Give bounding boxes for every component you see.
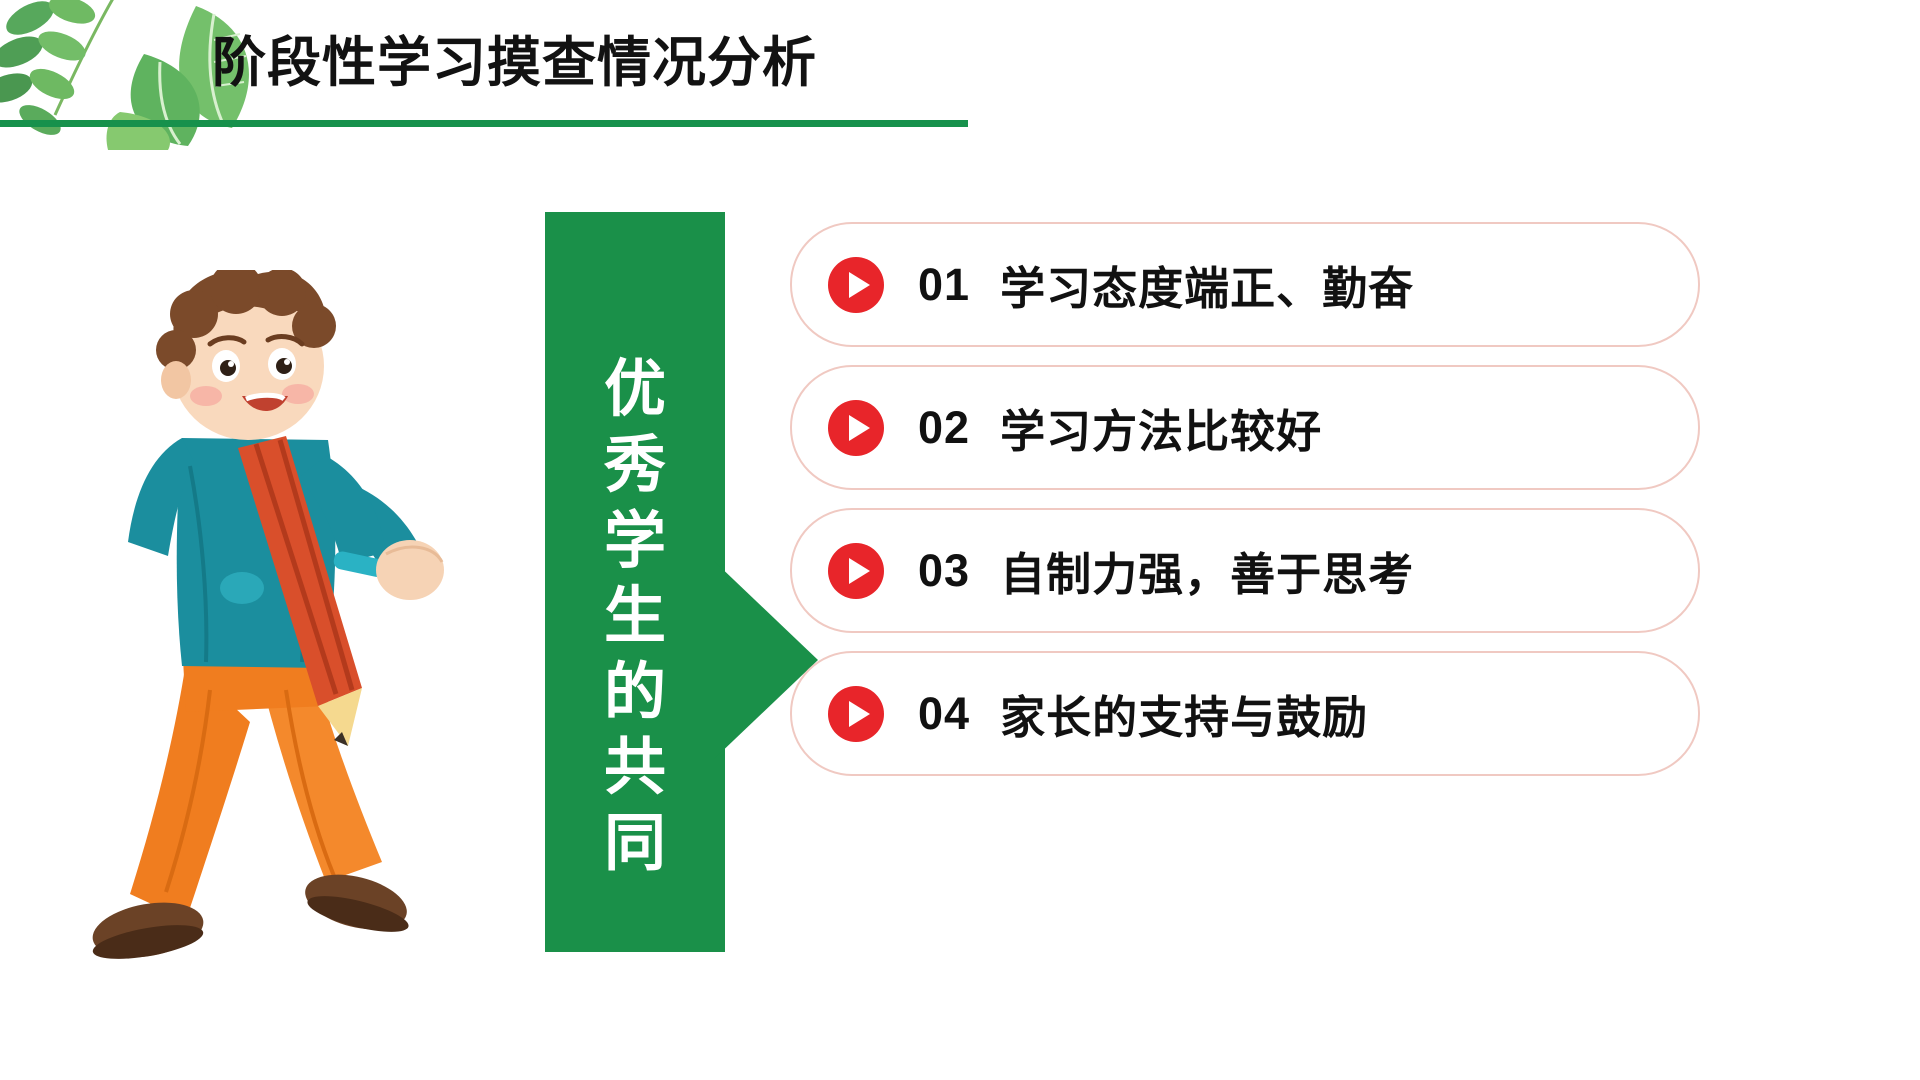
list-item-label: 自制力强，善于思考	[1000, 538, 1414, 603]
list-item-label: 家长的支持与鼓励	[1000, 681, 1368, 746]
page-header: 阶段性学习摸查情况分析	[0, 0, 1100, 160]
boy-with-pencil-illustration	[90, 270, 520, 970]
list-item[interactable]: 02 学习方法比较好	[790, 365, 1700, 490]
head	[156, 270, 336, 440]
list-item[interactable]: 04 家长的支持与鼓励	[790, 651, 1700, 776]
list-item-number: 01	[918, 259, 970, 311]
play-icon	[828, 543, 884, 599]
page-title: 阶段性学习摸查情况分析	[212, 36, 817, 90]
list-item-label: 学习态度端正、勤奋	[1000, 252, 1414, 317]
play-icon	[828, 257, 884, 313]
vertical-banner: 优 秀 学 生 的 共 同	[545, 212, 725, 952]
list-item[interactable]: 03 自制力强，善于思考	[790, 508, 1700, 633]
list-item-number: 03	[918, 545, 970, 597]
list-item-number: 04	[918, 688, 970, 740]
play-icon	[828, 686, 884, 742]
list-item-label: 学习方法比较好	[1000, 395, 1322, 460]
feature-list: 01 学习态度端正、勤奋 02 学习方法比较好 03 自制力强，善于思考 04 …	[790, 222, 1700, 776]
list-item-number: 02	[918, 402, 970, 454]
title-underline	[0, 120, 968, 127]
play-icon	[828, 400, 884, 456]
list-item[interactable]: 01 学习态度端正、勤奋	[790, 222, 1700, 347]
hand	[376, 540, 444, 600]
banner-background	[545, 212, 725, 952]
